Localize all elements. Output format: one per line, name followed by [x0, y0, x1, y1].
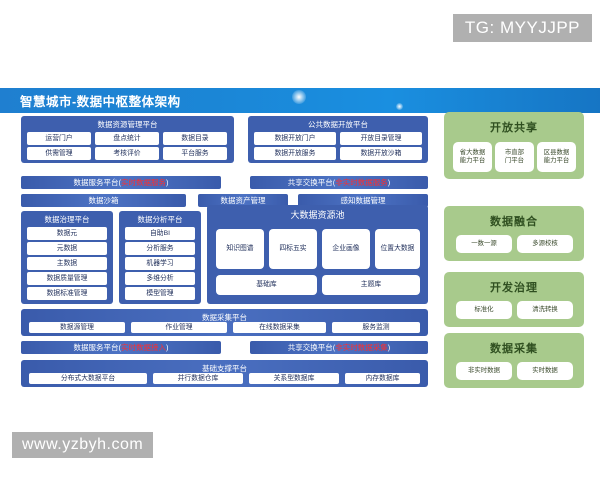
banner-glow-dot-small — [396, 103, 403, 110]
bar-exchange-platform-top-red: 非实时数据服务 — [335, 177, 388, 188]
block-title-foundation-support: 基础支撑平台 — [21, 360, 428, 374]
cell-public-open-1[interactable]: 开放目录管理 — [340, 132, 422, 145]
bar-service-platform-bottom-label: 数据服务平台( — [74, 342, 122, 353]
block-data-analysis[interactable]: 数据分析平台 自助BI 分析服务 机器学习 多维分析 模型管理 — [119, 211, 201, 304]
cell-collection-1[interactable]: 作业管理 — [131, 322, 227, 333]
cell-governance-4[interactable]: 数据标准管理 — [27, 287, 107, 300]
banner-glow-dot-large — [292, 90, 306, 104]
cell-collection-0[interactable]: 数据源管理 — [29, 322, 125, 333]
cell-foundation-3[interactable]: 内存数据库 — [345, 373, 420, 384]
panel-cell-data-fusion-0[interactable]: 一数一源 — [456, 235, 512, 253]
cell-foundation-2[interactable]: 关系型数据库 — [249, 373, 339, 384]
panel-title-data-collection-side: 数据采集 — [444, 333, 584, 356]
cell-resource-5[interactable]: 平台服务 — [163, 147, 227, 160]
cell-governance-0[interactable]: 数据元 — [27, 227, 107, 240]
panel-cell-open-sharing-0[interactable]: 省大数据 能力平台 — [453, 142, 492, 172]
bar-exchange-platform-bottom[interactable]: 共享交换平台(非实时数据采集) — [250, 341, 428, 354]
block-title-data-collection: 数据采集平台 — [21, 309, 428, 323]
cell-resource-2[interactable]: 数据目录 — [163, 132, 227, 145]
panel-title-data-fusion: 数据融合 — [444, 206, 584, 229]
bar-service-platform-bottom-tail: ) — [166, 343, 169, 352]
block-title-public-open: 公共数据开放平台 — [248, 116, 428, 130]
bar-exchange-platform-bottom-red: 非实时数据采集 — [335, 342, 388, 353]
cell-pool-bottom-0[interactable]: 基础库 — [216, 275, 317, 295]
cell-analysis-3[interactable]: 多维分析 — [125, 272, 195, 285]
cell-governance-3[interactable]: 数据质量管理 — [27, 272, 107, 285]
panel-cell-data-collection-side-1[interactable]: 实时数据 — [517, 362, 573, 380]
panel-cell-data-collection-side-0[interactable]: 非实时数据 — [456, 362, 512, 380]
block-title-data-analysis: 数据分析平台 — [119, 211, 201, 225]
panel-data-collection-side[interactable]: 数据采集 非实时数据 实时数据 — [444, 333, 584, 388]
bar-exchange-platform-top-label: 共享交换平台( — [288, 177, 336, 188]
cell-resource-3[interactable]: 供需管理 — [27, 147, 91, 160]
block-public-open[interactable]: 公共数据开放平台 数据开放门户 开放目录管理 数据开放服务 数据开放沙箱 — [248, 116, 428, 163]
cell-public-open-3[interactable]: 数据开放沙箱 — [340, 147, 422, 160]
panel-open-sharing[interactable]: 开放共享 省大数据 能力平台 市直部 门平台 区县数据 能力平台 — [444, 112, 584, 179]
cell-analysis-4[interactable]: 模型管理 — [125, 287, 195, 300]
bar-service-platform-top-red: 实时数据服务 — [121, 177, 166, 188]
panel-cell-dev-governance-0[interactable]: 标准化 — [456, 301, 512, 319]
cell-pool-top-1[interactable]: 四标五实 — [269, 229, 317, 269]
cell-public-open-0[interactable]: 数据开放门户 — [254, 132, 336, 145]
panel-cell-dev-governance-1[interactable]: 清洗转换 — [517, 301, 573, 319]
bar-exchange-platform-bottom-tail: ) — [388, 343, 391, 352]
cell-analysis-1[interactable]: 分析服务 — [125, 242, 195, 255]
block-title-data-governance: 数据治理平台 — [21, 211, 113, 225]
bar-exchange-platform-top[interactable]: 共享交换平台(非实时数据服务) — [250, 176, 428, 189]
cell-resource-0[interactable]: 运营门户 — [27, 132, 91, 145]
cell-public-open-2[interactable]: 数据开放服务 — [254, 147, 336, 160]
bar-service-platform-bottom-red: 实时数据接入 — [121, 342, 166, 353]
cell-analysis-0[interactable]: 自助BI — [125, 227, 195, 240]
cell-resource-1[interactable]: 盘点统计 — [95, 132, 159, 145]
block-data-collection[interactable]: 数据采集平台 数据源管理 作业管理 在线数据采集 服务监测 — [21, 309, 428, 336]
cell-collection-2[interactable]: 在线数据采集 — [233, 322, 326, 333]
panel-title-open-sharing: 开放共享 — [444, 112, 584, 135]
block-resource-management[interactable]: 数据资源管理平台 运营门户 盘点统计 数据目录 供需管理 考核评价 平台服务 — [21, 116, 234, 163]
cell-pool-top-0[interactable]: 知识图谱 — [216, 229, 264, 269]
page-title: 智慧城市-数据中枢整体架构 — [20, 91, 181, 110]
cell-pool-bottom-1[interactable]: 主题库 — [322, 275, 420, 295]
panel-cell-open-sharing-2[interactable]: 区县数据 能力平台 — [537, 142, 576, 172]
title-banner: 智慧城市-数据中枢整体架构 — [0, 88, 600, 113]
block-title-resource-management: 数据资源管理平台 — [21, 116, 234, 130]
bar-data-sandbox[interactable]: 数据沙箱 — [21, 194, 186, 207]
cell-foundation-1[interactable]: 并行数据仓库 — [153, 373, 243, 384]
panel-data-fusion[interactable]: 数据融合 一数一源 多源校核 — [444, 206, 584, 261]
cell-governance-2[interactable]: 主数据 — [27, 257, 107, 270]
panel-cell-data-fusion-1[interactable]: 多源校核 — [517, 235, 573, 253]
bar-service-platform-top-tail: ) — [166, 178, 169, 187]
architecture-diagram: TG: MYYJJPP www.yzbyh.com 智慧城市-数据中枢整体架构 … — [0, 0, 600, 480]
watermark-top-right: TG: MYYJJPP — [453, 14, 592, 42]
bar-exchange-platform-bottom-label: 共享交换平台( — [288, 342, 336, 353]
cell-foundation-0[interactable]: 分布式大数据平台 — [29, 373, 147, 384]
cell-governance-1[interactable]: 元数据 — [27, 242, 107, 255]
panel-cell-open-sharing-1[interactable]: 市直部 门平台 — [495, 142, 534, 172]
panel-title-dev-governance: 开发治理 — [444, 272, 584, 295]
bar-service-platform-top[interactable]: 数据服务平台(实时数据服务) — [21, 176, 221, 189]
block-data-governance[interactable]: 数据治理平台 数据元 元数据 主数据 数据质量管理 数据标准管理 — [21, 211, 113, 304]
cell-pool-top-2[interactable]: 企业画像 — [322, 229, 370, 269]
cell-pool-top-3[interactable]: 位置大数据 — [375, 229, 420, 269]
block-title-resource-pool: 大数据资源池 — [207, 205, 428, 221]
block-foundation-support[interactable]: 基础支撑平台 分布式大数据平台 并行数据仓库 关系型数据库 内存数据库 — [21, 360, 428, 387]
watermark-bottom-left: www.yzbyh.com — [12, 432, 153, 458]
bar-service-platform-top-label: 数据服务平台( — [74, 177, 122, 188]
bar-service-platform-bottom[interactable]: 数据服务平台(实时数据接入) — [21, 341, 221, 354]
block-bigdata-resource-pool[interactable]: 大数据资源池 知识图谱 四标五实 企业画像 位置大数据 基础库 主题库 — [207, 205, 428, 304]
bar-exchange-platform-top-tail: ) — [388, 178, 391, 187]
cell-collection-3[interactable]: 服务监测 — [332, 322, 420, 333]
panel-dev-governance[interactable]: 开发治理 标准化 清洗转换 — [444, 272, 584, 327]
cell-analysis-2[interactable]: 机器学习 — [125, 257, 195, 270]
cell-resource-4[interactable]: 考核评价 — [95, 147, 159, 160]
